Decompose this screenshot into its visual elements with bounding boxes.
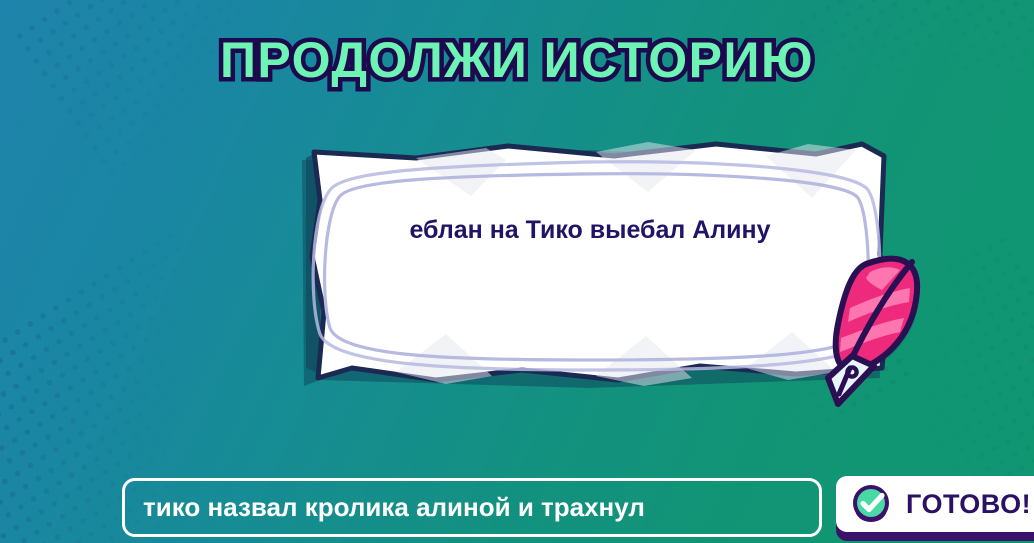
page-title: ПРОДОЛЖИ ИСТОРИЮ — [0, 31, 1034, 89]
quill-pen-icon — [812, 244, 930, 410]
story-card-text: еблан на Тико выебал Алину — [340, 214, 840, 248]
check-circle-icon — [852, 484, 892, 524]
torn-paper-note-icon — [296, 136, 896, 388]
done-button[interactable]: ГОТОВО! — [836, 476, 1034, 532]
done-button-label: ГОТОВО! — [906, 489, 1031, 520]
answer-input[interactable]: тико назвал кролика алиной и трахнул — [122, 478, 822, 537]
story-card: еблан на Тико выебал Алину — [296, 136, 896, 388]
game-screen: ПРОДОЛЖИ ИСТОРИЮ еблан на Тико выебал Ал… — [0, 0, 1034, 543]
answer-input-value: тико назвал кролика алиной и трахнул — [143, 492, 645, 523]
